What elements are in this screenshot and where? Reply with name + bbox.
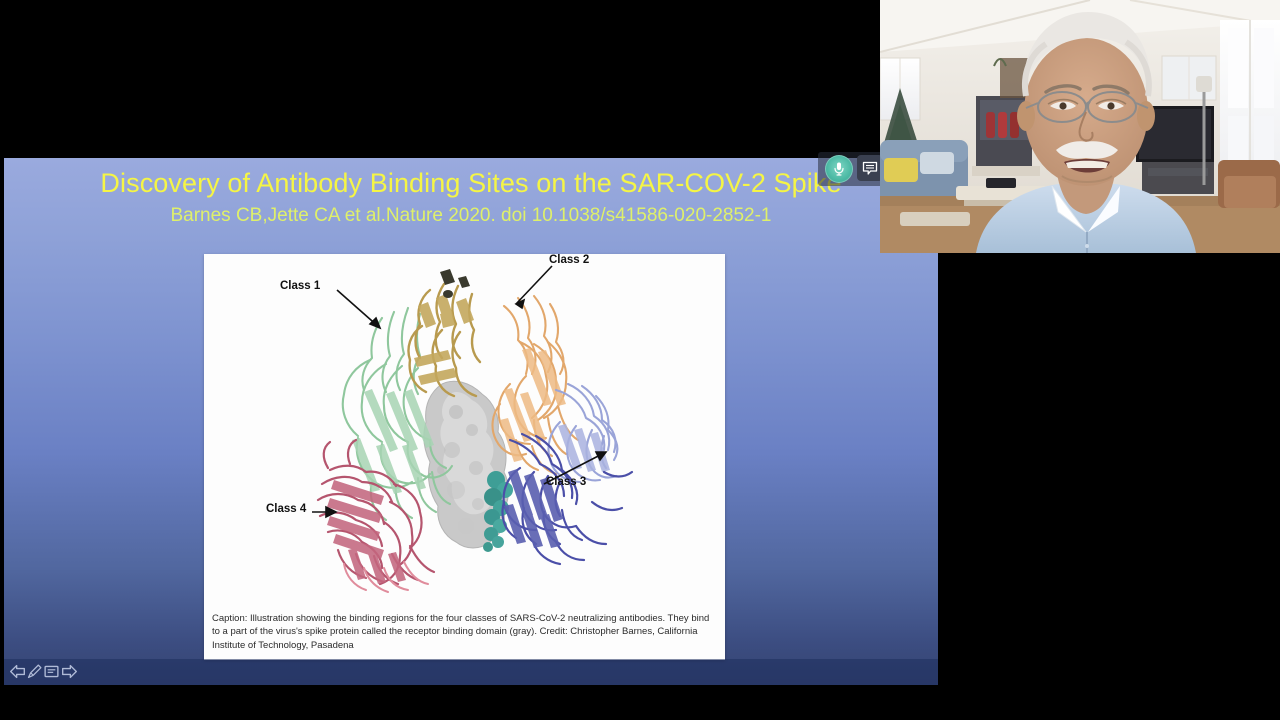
microphone-button[interactable] [825,155,853,183]
figure-panel: Class 1 Class 2 Class 3 Class 4 Caption:… [204,254,725,660]
screen-root: Discovery of Antibody Binding Sites on t… [0,0,1280,720]
microphone-icon [832,161,846,177]
chat-bubble-icon [862,161,878,176]
arrow-right-icon[interactable] [61,662,78,681]
arrow-left-icon[interactable] [9,662,26,681]
protein-structure-figure: Class 1 Class 2 Class 3 Class 4 [204,254,725,594]
figure-label-class-4: Class 4 [266,503,306,515]
figure-label-class-2: Class 2 [549,254,589,266]
figure-label-class-3: Class 3 [546,476,586,488]
page-title: Discovery of Antibody Binding Sites on t… [4,166,938,200]
figure-caption: Caption: Illustration showing the bindin… [204,608,725,661]
participant-video-tile[interactable] [880,0,1280,253]
slideshow-toolbar[interactable] [4,659,938,685]
slide-title-block: Discovery of Antibody Binding Sites on t… [4,166,938,231]
figure-label-class-1: Class 1 [280,280,320,292]
webcam-video-frame [880,0,1280,253]
pen-icon[interactable] [26,662,43,681]
presentation-slide[interactable]: Discovery of Antibody Binding Sites on t… [4,158,938,685]
slide-subtitle: Barnes CB,Jette CA et al.Nature 2020. do… [4,201,938,231]
menu-icon[interactable] [43,662,60,681]
chair [1218,160,1280,208]
antibody-spike-structure-illustration [204,254,725,594]
